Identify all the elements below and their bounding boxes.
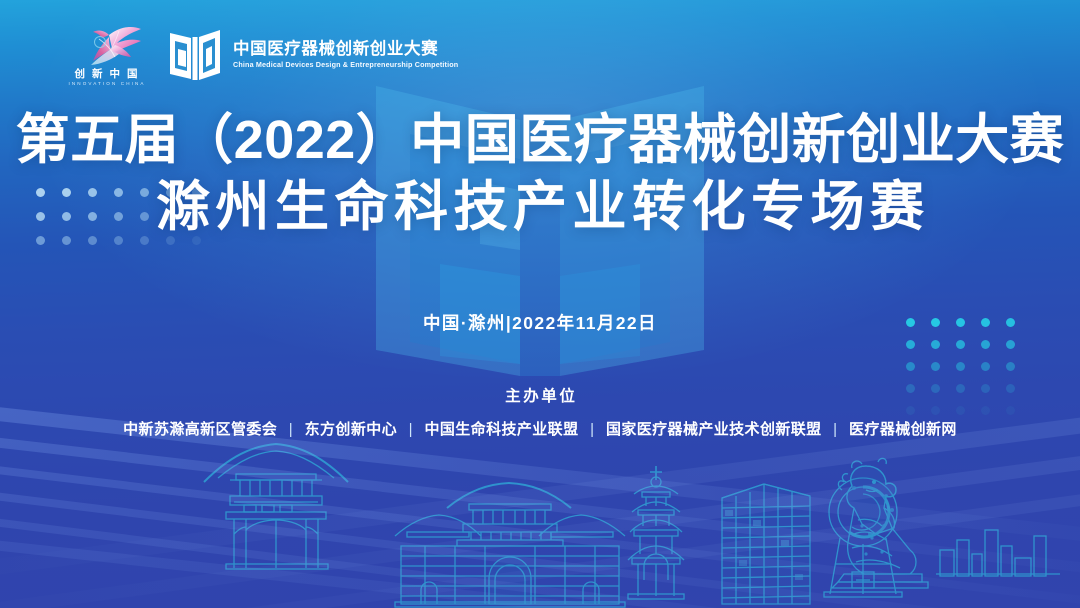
organizers-section: 主办单位 中新苏滁高新区管委会 | 东方创新中心 | 中国生命科技产业联盟 | …	[0, 389, 1080, 437]
banner-content: 第五届（2022）中国医疗器械创新创业大赛 滁州生命科技产业转化专场赛 中国·滁…	[0, 0, 1080, 608]
organizer-item: 东方创新中心	[305, 421, 397, 438]
logo-innovation-china[interactable]: 创新中国 INNOVATION CHINA	[62, 23, 150, 86]
logo-innovation-china-en: INNOVATION CHINA	[66, 82, 145, 87]
header-logos: 创新中国 INNOVATION CHINA 中国医疗器械创新创业大赛 China…	[62, 23, 458, 86]
title-line-1: 第五届（2022）中国医疗器械创新创业大赛	[0, 112, 1080, 169]
organizer-separator: |	[583, 421, 601, 438]
organizer-separator: |	[282, 421, 300, 438]
organizers-list: 中新苏滁高新区管委会 | 东方创新中心 | 中国生命科技产业联盟 | 国家医疗器…	[0, 422, 1080, 437]
logo-competition[interactable]: 中国医疗器械创新创业大赛 China Medical Devices Desig…	[168, 27, 458, 83]
logo-competition-cn: 中国医疗器械创新创业大赛	[233, 41, 458, 58]
logo-competition-en: China Medical Devices Design & Entrepren…	[233, 61, 458, 68]
organizer-separator: |	[826, 421, 844, 438]
event-banner: 创新中国 INNOVATION CHINA 中国医疗器械创新创业大赛 China…	[0, 0, 1080, 608]
organizer-item: 医疗器械创新网	[849, 421, 957, 438]
page-title: 第五届（2022）中国医疗器械创新创业大赛 滁州生命科技产业转化专场赛	[0, 112, 1080, 236]
logo-innovation-china-cn: 创新中国	[68, 69, 145, 80]
open-door-icon	[168, 27, 222, 83]
phoenix-bird-icon	[69, 23, 143, 67]
title-line-2: 滁州生命科技产业转化专场赛	[0, 179, 1080, 236]
organizer-item: 中国生命科技产业联盟	[424, 421, 578, 438]
organizer-separator: |	[402, 421, 420, 438]
event-location-date: 中国·滁州|2022年11月22日	[0, 310, 1080, 335]
organizer-item: 中新苏滁高新区管委会	[123, 421, 277, 438]
organizers-label: 主办单位	[0, 389, 1080, 405]
organizer-item: 国家医疗器械产业技术创新联盟	[606, 421, 822, 438]
